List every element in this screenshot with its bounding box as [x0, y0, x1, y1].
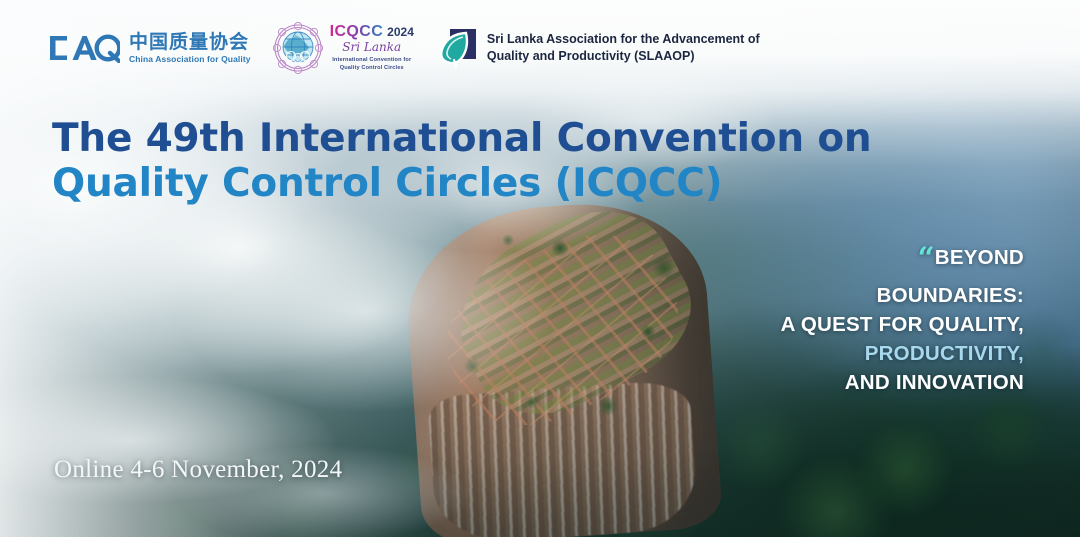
- icqcc-title-row: ICQCC 2024: [330, 24, 414, 40]
- icqcc-conference-banner: 中国质量协会 China Association for Quality: [0, 0, 1080, 537]
- caq-name-cn: 中国质量协会: [129, 33, 251, 52]
- caq-name-en: China Association for Quality: [129, 55, 251, 64]
- slaaop-name-line2: Quality and Productivity (SLAAOP): [487, 48, 760, 65]
- logo-slaaop: Sri Lanka Association for the Advancemen…: [436, 26, 760, 70]
- tagline-line-1: “BEYOND: [694, 238, 1024, 281]
- slaaop-name-line1: Sri Lanka Association for the Advancemen…: [487, 31, 760, 48]
- icqcc-subtitle-line1: International Convention for: [332, 56, 411, 64]
- tagline-line-3: A QUEST FOR QUALITY,: [694, 310, 1024, 339]
- tagline-line-2: BOUNDARIES:: [694, 281, 1024, 310]
- icqcc-subtitle: International Convention for Quality Con…: [332, 56, 411, 72]
- icqcc-year: 2024: [387, 26, 414, 38]
- headline-line-1: The 49th International Convention on: [52, 116, 872, 161]
- icqcc-subtitle-line2: Quality Control Circles: [332, 64, 411, 72]
- icqcc-country-script: Sri Lanka: [342, 41, 401, 53]
- logo-bar: 中国质量协会 China Association for Quality: [0, 0, 1080, 96]
- quote-mark-icon: “: [918, 241, 933, 276]
- headline-line-2: Quality Control Circles (ICQCC): [52, 161, 872, 206]
- icqcc-emblem-icon: [273, 21, 323, 75]
- tagline-line-4: PRODUCTIVITY,: [694, 339, 1024, 368]
- theme-tagline: “BEYOND BOUNDARIES: A QUEST FOR QUALITY,…: [694, 238, 1024, 397]
- page-title: The 49th International Convention on Qua…: [52, 116, 872, 206]
- icqcc-wordmark: ICQCC 2024 Sri Lanka International Conve…: [330, 24, 414, 72]
- tagline-text-1: BEYOND: [935, 246, 1024, 269]
- logo-caq: 中国质量协会 China Association for Quality: [48, 33, 251, 64]
- slaaop-wordmark: Sri Lanka Association for the Advancemen…: [487, 31, 760, 66]
- icqcc-word: ICQCC: [330, 24, 384, 40]
- event-date: Online 4-6 November, 2024: [54, 456, 342, 484]
- slaaop-leaf-icon: [436, 26, 478, 70]
- logo-icqcc: ICQCC 2024 Sri Lanka International Conve…: [273, 21, 414, 75]
- caq-monogram-icon: [48, 33, 120, 63]
- tagline-line-5: AND INNOVATION: [694, 368, 1024, 397]
- caq-wordmark: 中国质量协会 China Association for Quality: [129, 33, 251, 64]
